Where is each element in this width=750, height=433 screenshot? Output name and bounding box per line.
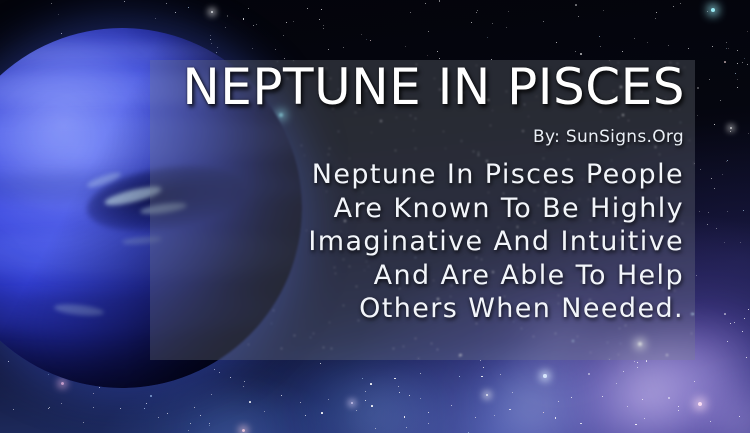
- text-block: NEPTUNE IN PISCES By: SunSigns.Org Neptu…: [150, 60, 695, 360]
- body-line: Are Known To Be Highly: [164, 192, 684, 226]
- body-line: And Are Able To Help: [164, 259, 684, 293]
- byline: By: SunSigns.Org: [533, 129, 684, 146]
- page-title: NEPTUNE IN PISCES: [182, 62, 685, 112]
- body-line: Imaginative And Intuitive: [164, 225, 684, 259]
- body-paragraph: Neptune In Pisces PeopleAre Known To Be …: [164, 158, 684, 326]
- body-line: Neptune In Pisces People: [164, 158, 684, 192]
- body-line: Others When Needed.: [164, 292, 684, 326]
- banner-image: NEPTUNE IN PISCES By: SunSigns.Org Neptu…: [0, 0, 750, 433]
